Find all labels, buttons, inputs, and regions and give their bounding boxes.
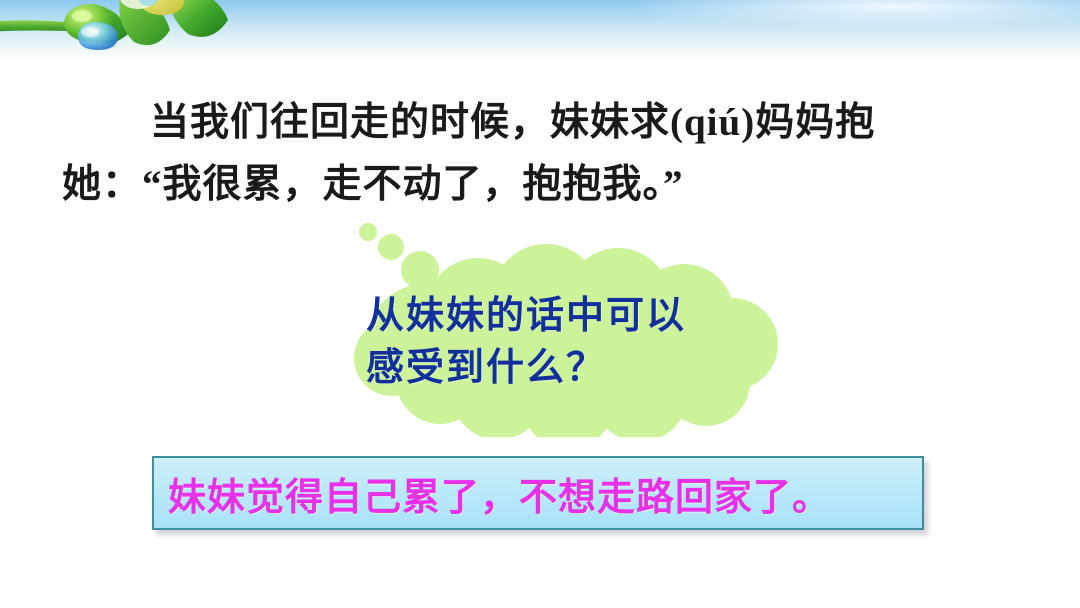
answer-box: 妹妹觉得自己累了，不想走路回家了。: [152, 456, 924, 530]
banner-light-haze: [620, 0, 1080, 30]
thought-cloud-line-1: 从妹妹的话中可以: [366, 290, 796, 342]
lesson-paragraph: 当我们往回走的时候，妹妹求(qiú)妈妈抱 她：“我很累，走不动了，抱抱我。”: [0, 92, 1080, 216]
thought-bubble-small: [359, 223, 377, 241]
answer-text: 妹妹觉得自己累了，不想走路回家了。: [154, 466, 831, 521]
paragraph-line-1: 当我们往回走的时候，妹妹求(qiú)妈妈抱: [0, 92, 1080, 154]
top-decoration-banner: [0, 0, 1080, 62]
thought-cloud-text: 从妹妹的话中可以 感受到什么？: [366, 290, 796, 394]
thought-cloud-line-2: 感受到什么？: [366, 342, 796, 394]
thought-bubble-medium: [378, 234, 404, 260]
paragraph-line-2: 她：“我很累，走不动了，抱抱我。”: [0, 154, 1080, 216]
leaf-stem-icon: [0, 0, 244, 58]
thought-bubble-large: [401, 251, 439, 289]
thought-cloud-question: 从妹妹的话中可以 感受到什么？: [296, 222, 816, 437]
